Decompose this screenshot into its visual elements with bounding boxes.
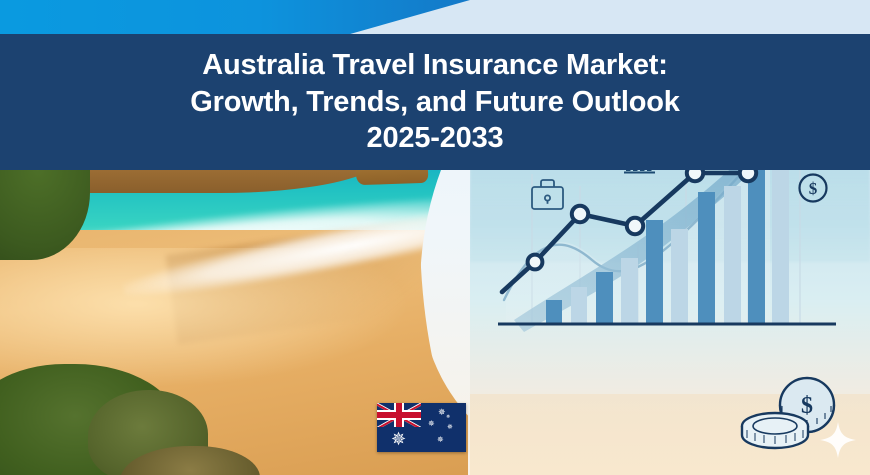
svg-text:$: $: [809, 179, 818, 198]
flag-star-epsilon-crucis: ✵: [446, 415, 450, 420]
flag-union-jack: [377, 403, 421, 427]
suitcase-icon: [532, 180, 563, 209]
title-banner: Australia Travel Insurance Market: Growt…: [0, 34, 870, 170]
title-line-1: Australia Travel Insurance Market:: [202, 47, 667, 84]
australian-flag: ✵ ✵ ✵ ✵ ✵ ✵: [377, 403, 466, 452]
sparkle-icon: [820, 422, 856, 458]
flag-star-delta-crucis: ✵: [437, 436, 444, 444]
flag-star-gamma-crucis: ✵: [447, 424, 453, 431]
coin-stack-icon: $: [742, 378, 834, 448]
svg-text:$: $: [801, 393, 813, 419]
flag-cross-red-horizontal: [377, 412, 421, 418]
top-accent-strip: [0, 0, 870, 36]
flag-commonwealth-star: ✵: [391, 430, 406, 448]
flag-star-alpha-crucis: ✵: [438, 408, 446, 417]
flag-star-beta-crucis: ✵: [428, 420, 435, 428]
banner-root: $ $: [0, 0, 870, 475]
dollar-circle-icon: $: [800, 175, 827, 202]
title-line-2: Growth, Trends, and Future Outlook: [190, 84, 679, 121]
title-line-3: 2025-2033: [367, 120, 504, 157]
page-title: Australia Travel Insurance Market: Growt…: [0, 34, 870, 170]
